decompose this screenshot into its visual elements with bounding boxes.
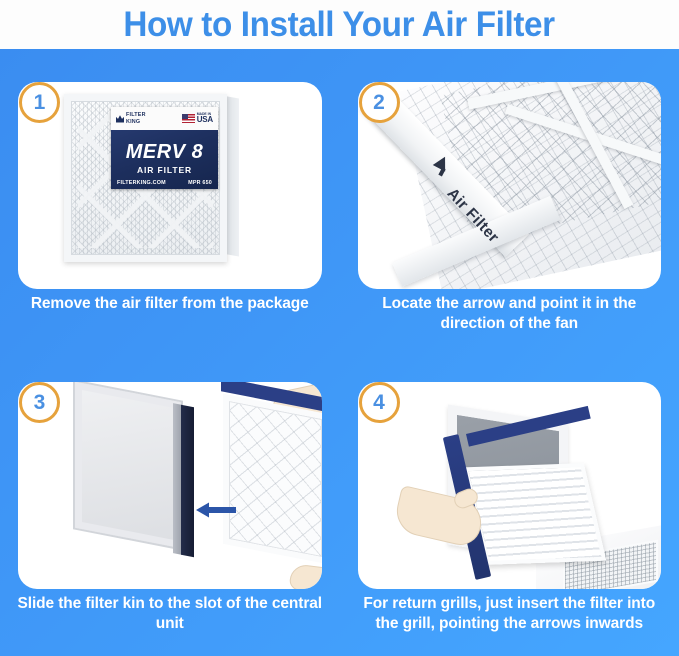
mpr-text: MPR 650 <box>188 180 212 186</box>
how-to-install-air-filter-infographic: How to Install Your Air Filter <box>0 0 679 656</box>
step-3-card <box>18 382 322 589</box>
step-3: 3 Slide the filter kin to the slot of th… <box>0 349 340 656</box>
unit-slot-dark-edge <box>181 405 194 558</box>
merv-rating: MERV 8 <box>111 141 218 164</box>
step-4-badge: 4 <box>359 382 400 423</box>
filter-label: FILTER KING MADE IN USA <box>111 107 218 189</box>
website-text: FILTERKING.COM <box>117 180 166 186</box>
made-in-usa-text: MADE IN USA <box>197 113 213 124</box>
page-title: How to Install Your Air Filter <box>124 5 555 45</box>
crown-icon <box>116 115 124 123</box>
filter-label-footer: FILTERKING.COM MPR 650 <box>111 180 218 186</box>
brand-name: FILTER KING <box>126 112 146 124</box>
made-in-usa-badge: MADE IN USA <box>182 113 213 124</box>
step-2: Air Filter 2 Locate the arrow and point … <box>340 49 679 349</box>
us-flag-icon <box>182 114 195 123</box>
hand-lower <box>289 563 322 589</box>
central-unit-slot <box>73 382 183 551</box>
step-2-badge: 2 <box>359 82 400 123</box>
step-4-card <box>358 382 662 589</box>
step-4-illustration <box>358 382 662 589</box>
step-1: FILTER KING MADE IN USA <box>0 49 340 349</box>
brand-line-2: KING <box>126 119 140 125</box>
step-3-badge: 3 <box>19 382 60 423</box>
filter-king-logo: FILTER KING <box>116 112 146 124</box>
step-1-card: FILTER KING MADE IN USA <box>18 82 322 289</box>
step-1-caption: Remove the air filter from the package <box>12 294 328 314</box>
step-2-caption: Locate the arrow and point it in the dir… <box>352 294 668 335</box>
step-4: 4 For return grills, just insert the fil… <box>340 349 679 656</box>
filter-panel <box>223 394 322 564</box>
step-1-illustration: FILTER KING MADE IN USA <box>18 82 322 289</box>
country-label: USA <box>197 116 213 124</box>
step-3-caption: Slide the filter kin to the slot of the … <box>12 594 328 635</box>
step-3-illustration <box>18 382 322 589</box>
step-2-card: Air Filter <box>358 82 662 289</box>
step-2-illustration: Air Filter <box>358 82 662 289</box>
step-4-caption: For return grills, just insert the filte… <box>352 594 668 635</box>
step-1-badge: 1 <box>19 82 60 123</box>
steps-grid: FILTER KING MADE IN USA <box>0 49 679 656</box>
merv8-filter-image: FILTER KING MADE IN USA <box>64 94 239 262</box>
product-type: AIR FILTER <box>111 165 218 175</box>
title-bar: How to Install Your Air Filter <box>0 0 679 49</box>
filter-label-header: FILTER KING MADE IN USA <box>111 107 218 130</box>
slide-direction-arrow-icon <box>196 502 236 518</box>
